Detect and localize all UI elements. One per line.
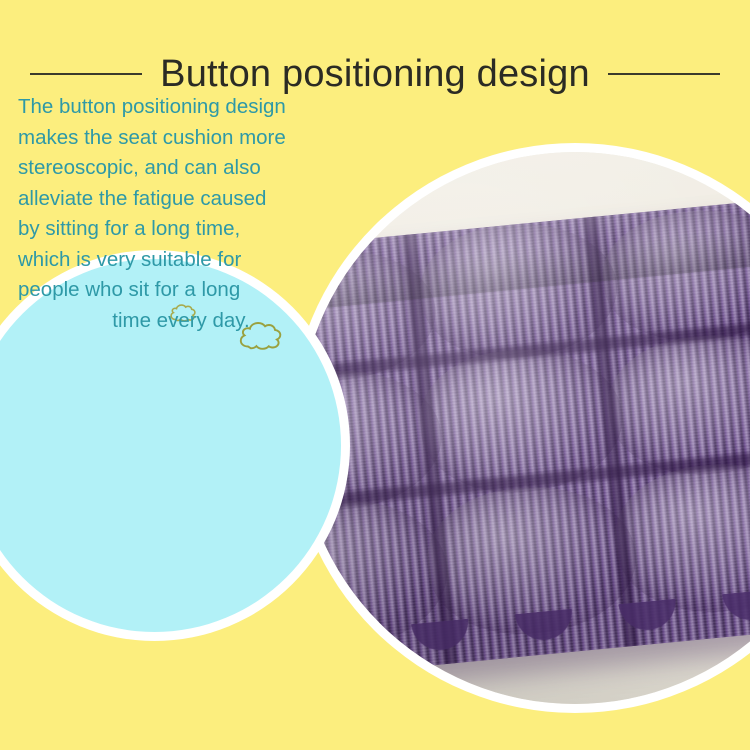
product-infographic: Button positioning design bbox=[0, 0, 750, 750]
photo-backdrop bbox=[299, 152, 750, 704]
info-line: by sitting for a long time, bbox=[16, 214, 346, 245]
info-line: The button positioning design bbox=[16, 92, 346, 123]
seat-cushion-photo bbox=[299, 152, 750, 704]
info-line: stereoscopic, and can also bbox=[16, 153, 346, 184]
cushion-body bbox=[299, 188, 750, 679]
info-line: which is very suitable for bbox=[16, 245, 346, 276]
info-line: alleviate the fatigue caused bbox=[16, 184, 346, 215]
page-title: Button positioning design bbox=[160, 52, 590, 96]
info-line: makes the seat cushion more bbox=[16, 123, 346, 154]
info-paragraph: The button positioning design makes the … bbox=[16, 92, 346, 336]
title-rule-right bbox=[608, 73, 720, 75]
info-line: time every day. bbox=[16, 306, 346, 337]
title-rule-left bbox=[30, 73, 142, 75]
info-line: people who sit for a long bbox=[16, 275, 346, 306]
